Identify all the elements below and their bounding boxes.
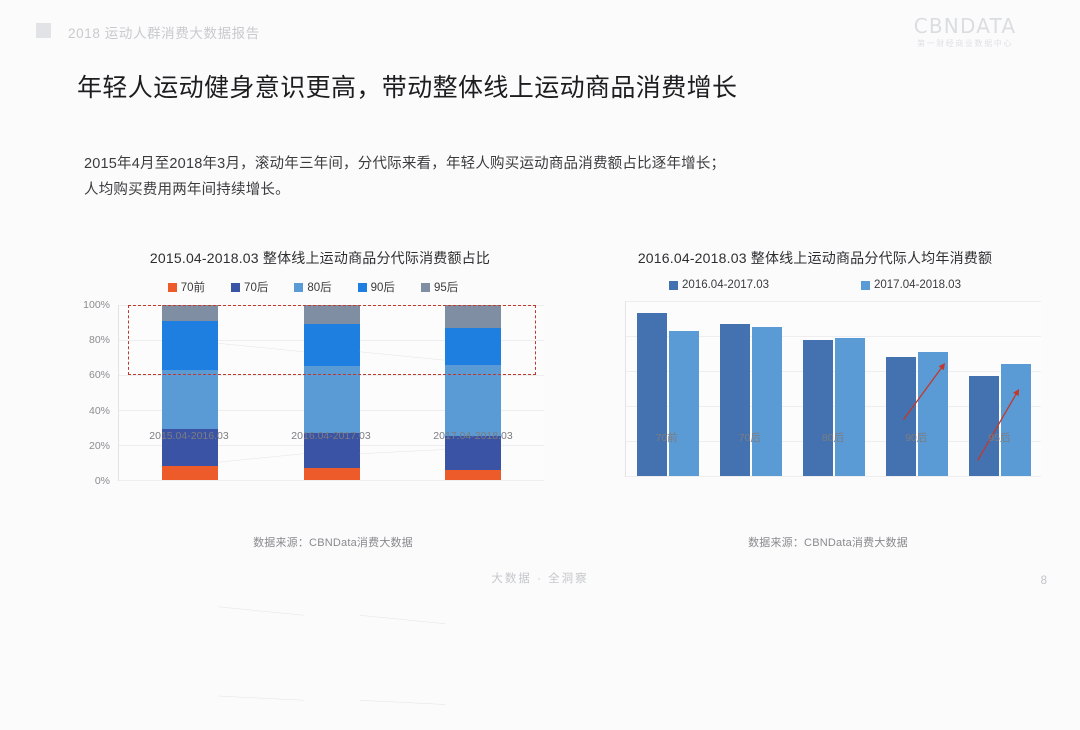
slide-header: 2018 运动人群消费大数据报告 CBNDATA 第一财经商业数据中心 xyxy=(0,0,1080,58)
header-square-marker xyxy=(36,23,51,38)
stacked-bar-column[interactable] xyxy=(445,305,501,480)
right-x-tick-label: 80后 xyxy=(822,430,844,445)
right-chart-legend: 2016.04-2017.03 2017.04-2018.03 xyxy=(585,279,1045,291)
footer-tagline: 大数据 · 全洞察 xyxy=(0,570,1080,586)
left-y-tick: 40% xyxy=(89,405,110,417)
stack-segment[interactable] xyxy=(162,321,218,370)
brand-subtitle: 第一财经商业数据中心 xyxy=(880,40,1050,48)
stacked-bar-column[interactable] xyxy=(162,305,218,480)
left-plot-area: 0%20%40%60%80%100% xyxy=(78,305,548,481)
chart-panel-left: 2015.04-2018.03 整体线上运动商品分代际消费额占比 70前 70后… xyxy=(78,248,548,558)
legend-swatch-pre70 xyxy=(168,283,177,292)
left-y-tick: 20% xyxy=(89,440,110,452)
lede-line-2: 人均购买费用两年间持续增长。 xyxy=(84,177,725,203)
stack-segment[interactable] xyxy=(304,366,360,433)
legend-swatch-post90 xyxy=(358,283,367,292)
right-x-axis: 70前70后80后90后95后 xyxy=(625,430,1041,450)
growth-arrows xyxy=(666,301,1037,672)
legend-label-series-2017: 2017.04-2018.03 xyxy=(874,279,961,291)
legend-item-post90: 90后 xyxy=(358,279,395,295)
left-x-axis: 2015.04-2016.032016.04-2017.032017.04-20… xyxy=(118,430,544,450)
legend-swatch-post80 xyxy=(294,283,303,292)
stack-segment[interactable] xyxy=(162,466,218,480)
report-label: 2018 运动人群消费大数据报告 xyxy=(68,22,260,42)
brand-name: CBNDATA xyxy=(880,16,1050,36)
lede-line-1: 2015年4月至2018年3月，滚动年三年间，分代际来看，年轻人购买运动商品消费… xyxy=(84,151,725,177)
right-x-tick-label: 70后 xyxy=(739,430,761,445)
legend-swatch-series-2016 xyxy=(669,281,678,290)
lede-paragraph: 2015年4月至2018年3月，滚动年三年间，分代际来看，年轻人购买运动商品消费… xyxy=(84,151,725,203)
legend-item-series-2016: 2016.04-2017.03 xyxy=(669,279,769,291)
legend-label-post95: 95后 xyxy=(434,279,458,295)
stack-segment[interactable] xyxy=(445,305,501,328)
legend-swatch-series-2017 xyxy=(861,281,870,290)
stack-segment[interactable] xyxy=(304,324,360,366)
left-y-tick: 80% xyxy=(89,334,110,346)
legend-label-pre70: 70前 xyxy=(181,279,205,295)
legend-item-series-2017: 2017.04-2018.03 xyxy=(861,279,961,291)
legend-label-post70: 70后 xyxy=(244,279,268,295)
left-y-axis: 0%20%40%60%80%100% xyxy=(78,305,116,481)
stack-segment[interactable] xyxy=(162,370,218,430)
legend-label-post90: 90后 xyxy=(371,279,395,295)
left-x-tick-label: 2016.04-2017.03 xyxy=(291,430,370,442)
right-plot-grid xyxy=(625,301,1041,477)
left-chart-legend: 70前 70后 80后 90后 95后 xyxy=(78,279,548,295)
stack-segment[interactable] xyxy=(304,305,360,324)
legend-item-pre70: 70前 xyxy=(168,279,205,295)
stacked-bar-column[interactable] xyxy=(304,305,360,480)
brand-logo: CBNDATA 第一财经商业数据中心 xyxy=(880,16,1050,48)
stack-segment[interactable] xyxy=(162,305,218,321)
chart-panel-right: 2016.04-2018.03 整体线上运动商品分代际人均年消费额 2016.0… xyxy=(585,248,1045,558)
bar-series-2016[interactable] xyxy=(637,313,667,476)
right-plot-area xyxy=(585,301,1045,477)
stack-segment[interactable] xyxy=(445,328,501,365)
legend-label-post80: 80后 xyxy=(307,279,331,295)
left-y-tick: 100% xyxy=(83,299,110,311)
stack-segment[interactable] xyxy=(445,470,501,481)
left-x-tick-label: 2015.04-2016.03 xyxy=(149,430,228,442)
grid-line xyxy=(119,480,544,481)
legend-item-post95: 95后 xyxy=(421,279,458,295)
stack-segment[interactable] xyxy=(445,365,501,437)
left-plot-grid xyxy=(118,305,544,481)
left-y-tick: 60% xyxy=(89,369,110,381)
legend-swatch-post70 xyxy=(231,283,240,292)
legend-label-series-2016: 2016.04-2017.03 xyxy=(682,279,769,291)
legend-swatch-post95 xyxy=(421,283,430,292)
page-title: 年轻人运动健身意识更高，带动整体线上运动商品消费增长 xyxy=(77,68,737,104)
left-chart-title: 2015.04-2018.03 整体线上运动商品分代际消费额占比 xyxy=(78,248,548,268)
stack-segment[interactable] xyxy=(304,468,360,480)
right-x-tick-label: 70前 xyxy=(656,430,678,445)
right-source-note: 数据来源：CBNData消费大数据 xyxy=(585,534,1045,550)
right-x-tick-label: 95后 xyxy=(988,430,1010,445)
right-x-tick-label: 90后 xyxy=(905,430,927,445)
left-y-tick: 0% xyxy=(95,475,110,487)
left-x-tick-label: 2017.04-2018.03 xyxy=(433,430,512,442)
left-source-note: 数据来源：CBNData消费大数据 xyxy=(78,534,548,550)
legend-item-post80: 80后 xyxy=(294,279,331,295)
right-chart-title: 2016.04-2018.03 整体线上运动商品分代际人均年消费额 xyxy=(585,248,1045,268)
slide-root: { "header": { "report_label": "2018 运动人群… xyxy=(0,0,1080,603)
page-number: 8 xyxy=(1041,575,1047,587)
legend-item-post70: 70后 xyxy=(231,279,268,295)
